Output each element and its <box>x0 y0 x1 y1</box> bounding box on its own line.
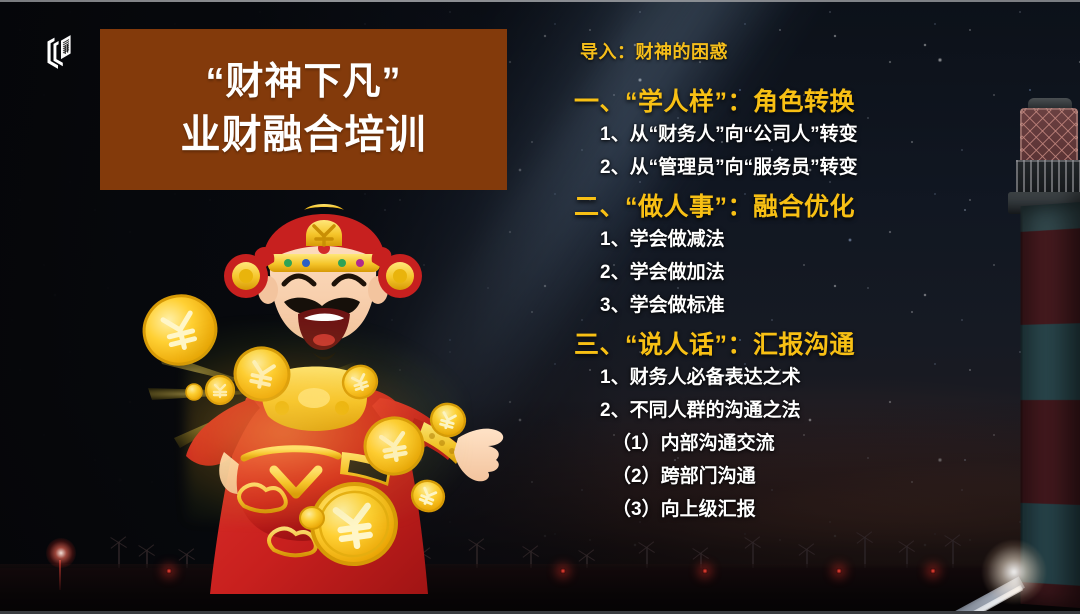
navigation-red-light <box>166 568 172 574</box>
slide-root: “财神下凡” 业财融合培训 <box>0 0 1080 614</box>
outline-subitem: （2）跨部门沟通 <box>612 467 1044 486</box>
outline-item: 2、不同人群的沟通之法 <box>600 401 1044 420</box>
lighthouse-beam-source-glow <box>982 540 1046 604</box>
title-block: “财神下凡” 业财融合培训 <box>100 29 507 190</box>
navigation-red-light <box>702 568 708 574</box>
navigation-red-light <box>268 568 274 574</box>
navigation-red-light <box>560 568 566 574</box>
section-2: 二、“做人事”：融合优化 1、学会做减法 2、学会做加法 3、学会做标准 <box>574 191 1044 315</box>
beacon-light-left <box>46 538 76 568</box>
section-heading: 一、“学人样”：角色转换 <box>574 86 1044 119</box>
section-1: 一、“学人样”：角色转换 1、从“财务人”向“公司人”转变 2、从“管理员”向“… <box>574 86 1044 177</box>
section-heading: 二、“做人事”：融合优化 <box>574 191 1044 224</box>
outline-item: 3、学会做标准 <box>600 296 1044 315</box>
navigation-red-light <box>930 568 936 574</box>
outline-content: 导入：财神的困惑 一、“学人样”：角色转换 1、从“财务人”向“公司人”转变 2… <box>574 30 1044 533</box>
navigation-red-light <box>408 568 414 574</box>
outline-item: 2、学会做加法 <box>600 263 1044 282</box>
intro-line: 导入：财神的困惑 <box>580 38 1044 64</box>
outline-item: 2、从“管理员”向“服务员”转变 <box>600 158 1044 177</box>
cube-logo <box>34 30 80 76</box>
outline-subitem: （1）内部沟通交流 <box>612 434 1044 453</box>
sea-foreground <box>0 568 1080 614</box>
section-heading: 三、“说人话”：汇报沟通 <box>574 329 1044 362</box>
navigation-red-light <box>836 568 842 574</box>
top-border <box>0 0 1080 2</box>
outline-item: 1、学会做减法 <box>600 230 1044 249</box>
outline-item: 1、财务人必备表达之术 <box>600 368 1044 387</box>
section-3: 三、“说人话”：汇报沟通 1、财务人必备表达之术 2、不同人群的沟通之法 （1）… <box>574 329 1044 519</box>
title-line-2: 业财融合培训 <box>181 113 427 158</box>
outline-item: 1、从“财务人”向“公司人”转变 <box>600 125 1044 144</box>
title-line-1: “财神下凡” <box>205 61 401 104</box>
outline-subitem: （3）向上级汇报 <box>612 500 1044 519</box>
